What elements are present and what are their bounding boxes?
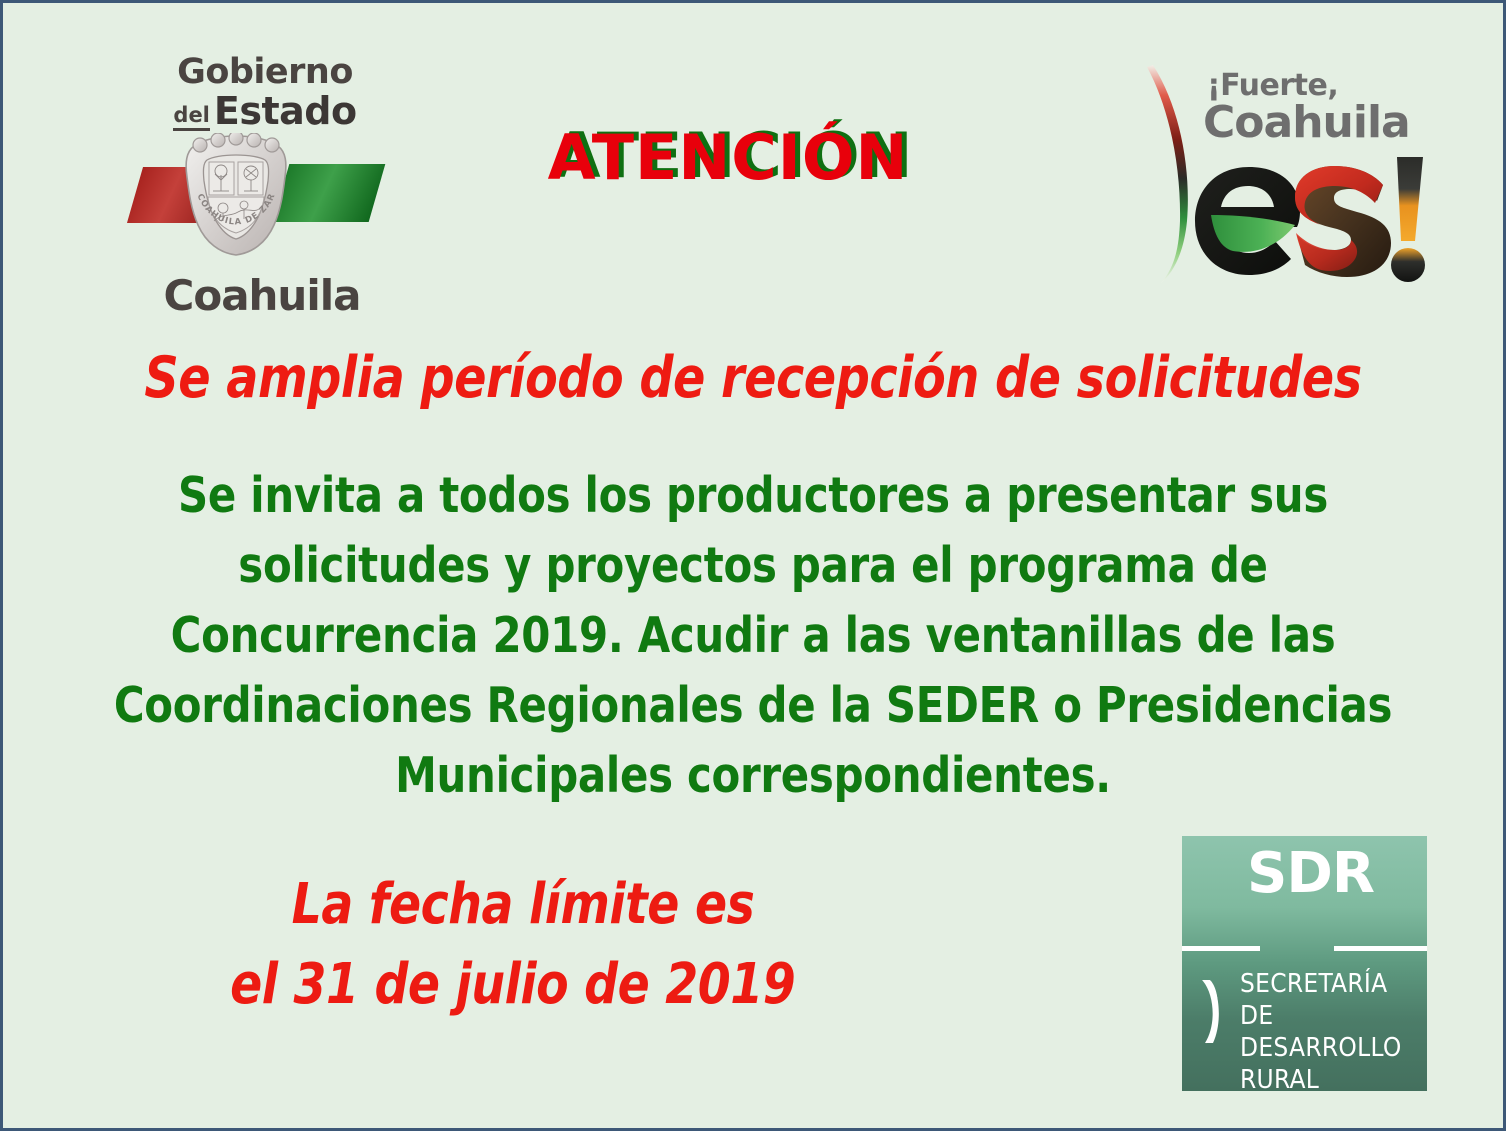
fuerte-coahuila-es-logo: ¡Fuerte, Coahuila bbox=[1145, 53, 1425, 293]
sdr-subtitle: SECRETARÍA DE DESARROLLO RURAL bbox=[1240, 968, 1427, 1091]
sdr-paren-mark-icon bbox=[1200, 978, 1222, 1046]
es-wordmark-icon bbox=[1187, 145, 1425, 285]
sdr-subtitle-line3: RURAL bbox=[1240, 1064, 1427, 1091]
sdr-acronym: SDR bbox=[1182, 846, 1427, 902]
sdr-secretaria-desarrollo-rural-logo: SDR SECRETARÍA DE DESARROLLO RURAL bbox=[1182, 836, 1427, 1091]
deadline-block: La fecha límite es el 31 de julio de 201… bbox=[185, 865, 862, 1025]
body-line: solicitudes y proyectos para el programa… bbox=[98, 531, 1409, 601]
gobierno-logo-line1: Gobierno bbox=[149, 55, 381, 90]
body-line: Se invita a todos los productores a pres… bbox=[98, 461, 1409, 531]
announcement-poster: Gobierno delEstado bbox=[0, 0, 1506, 1131]
gobierno-logo-state: Coahuila bbox=[143, 275, 381, 317]
sdr-subtitle-line1: SECRETARÍA DE bbox=[1240, 968, 1427, 1032]
poster-header: Gobierno delEstado bbox=[3, 3, 1503, 323]
subtitle: Se amplia período de recepción de solici… bbox=[56, 345, 1451, 411]
body-line: Concurrencia 2019. Acudir a las ventanil… bbox=[98, 601, 1409, 671]
body-line: Coordinaciones Regionales de la SEDER o … bbox=[98, 671, 1409, 741]
deadline-line2: el 31 de julio de 2019 bbox=[164, 945, 861, 1025]
fuerte-logo-line2: Coahuila bbox=[1203, 101, 1410, 145]
sdr-subtitle-line2: DESARROLLO bbox=[1240, 1032, 1427, 1064]
sdr-acronym-area: SDR bbox=[1182, 836, 1427, 951]
sdr-divider-right bbox=[1334, 946, 1427, 951]
body-paragraph: Se invita a todos los productores a pres… bbox=[98, 461, 1409, 811]
body-line: Municipales correspondientes. bbox=[98, 741, 1409, 811]
deadline-line1: La fecha límite es bbox=[292, 872, 755, 937]
sdr-divider-left bbox=[1182, 946, 1260, 951]
